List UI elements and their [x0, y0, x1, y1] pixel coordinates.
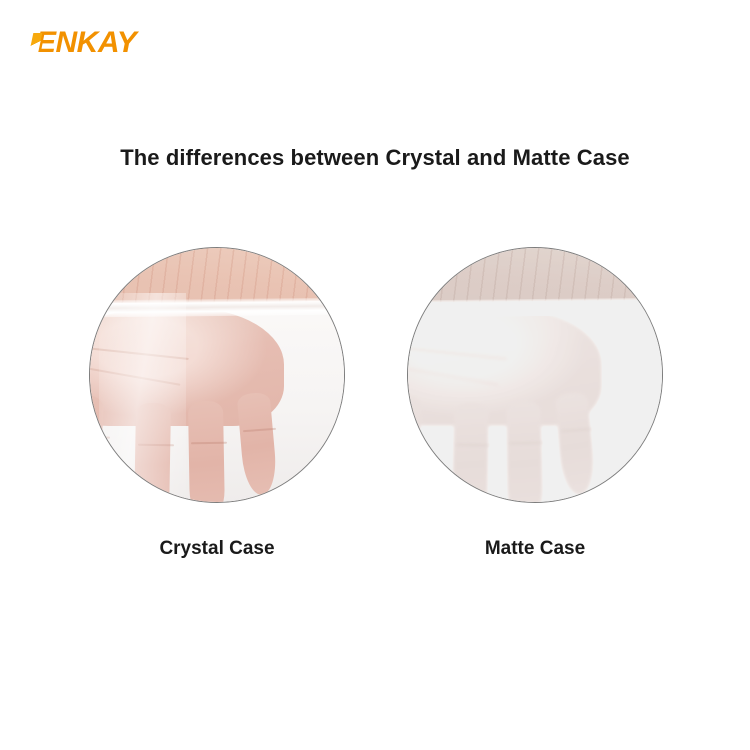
brand-logo: ENKAY	[31, 28, 136, 58]
matte-case-photo	[407, 247, 663, 503]
sample-matte	[407, 247, 663, 503]
product-comparison-page: ENKAY The differences between Crystal an…	[0, 0, 750, 750]
caption-crystal-case: Crystal Case	[89, 538, 345, 560]
caption-matte-case: Matte Case	[407, 538, 663, 560]
sample-crystal	[89, 247, 345, 503]
circle-vignette	[408, 248, 662, 502]
crystal-case-photo	[89, 247, 345, 503]
circle-vignette	[90, 248, 344, 502]
page-title: The differences between Crystal and Matt…	[0, 145, 750, 171]
brand-logo-text: ENKAY	[36, 26, 136, 59]
